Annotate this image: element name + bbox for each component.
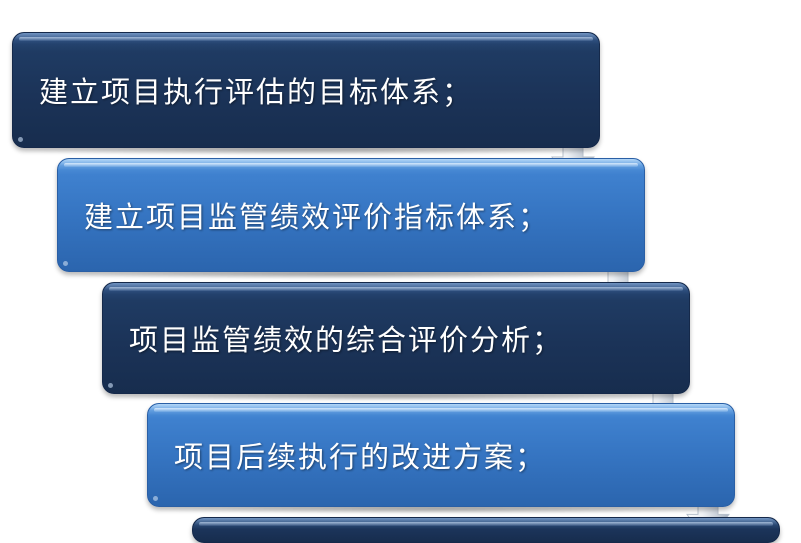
step-top-sheen: [193, 518, 779, 529]
step-top-glint: [154, 408, 728, 412]
process-step-2[interactable]: 建立项目监管绩效评价指标体系；: [57, 158, 645, 272]
step-corner-highlight: [108, 383, 113, 388]
step-top-sheen: [13, 33, 599, 44]
step-label-1: 建立项目执行评估的目标体系；: [39, 69, 473, 111]
step-corner-highlight: [18, 137, 23, 142]
step-top-glint: [109, 287, 683, 291]
step-top-glint: [19, 37, 593, 41]
process-step-3[interactable]: 项目监管绩效的综合评价分析；: [102, 282, 690, 394]
process-step-1[interactable]: 建立项目执行评估的目标体系；: [12, 32, 600, 148]
step-top-sheen: [148, 404, 734, 415]
step-corner-highlight: [63, 261, 68, 266]
step-label-3: 项目监管绩效的综合评价分析；: [129, 317, 563, 359]
step-top-glint: [199, 522, 773, 526]
process-step-4[interactable]: 项目后续执行的改进方案；: [147, 403, 735, 507]
diagram-canvas: 建立项目执行评估的目标体系； 建立项目监管绩效评价指标体系； 项目监管绩效的综合…: [0, 0, 801, 543]
process-step-5[interactable]: [192, 517, 780, 543]
step-corner-highlight: [153, 496, 158, 501]
step-top-sheen: [58, 159, 644, 170]
step-top-glint: [64, 163, 638, 167]
step-top-sheen: [103, 283, 689, 294]
step-label-4: 项目后续执行的改进方案；: [174, 434, 546, 476]
step-label-2: 建立项目监管绩效评价指标体系；: [84, 194, 549, 236]
